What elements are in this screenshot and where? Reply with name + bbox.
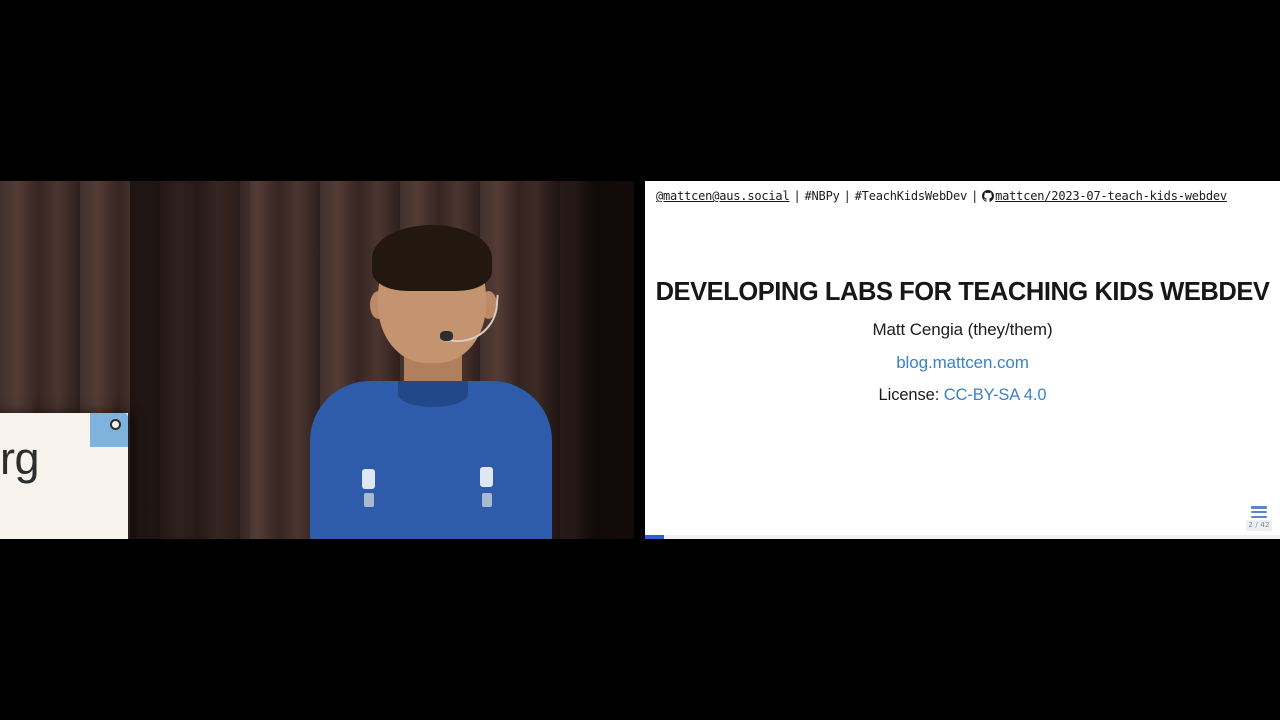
slide-counter: 2 / 42 bbox=[1246, 520, 1272, 531]
slide-title: DEVELOPING LABS FOR TEACHING KIDS WEBDEV bbox=[645, 277, 1280, 307]
headset-mic-capsule-icon bbox=[440, 331, 453, 341]
slide-license-line: License: CC-BY-SA 4.0 bbox=[645, 386, 1280, 405]
slide-author: Matt Cengia (they/them) bbox=[645, 320, 1280, 340]
banner-pin-icon bbox=[110, 419, 121, 430]
slide-progress-fill bbox=[645, 535, 664, 539]
menu-bar-3 bbox=[1251, 516, 1267, 519]
menu-bar-1 bbox=[1251, 506, 1267, 509]
speaker-video-panel[interactable]: North Bay Python mberg ng tabricks thon … bbox=[0, 181, 634, 539]
hashtag-event: #NBPy bbox=[805, 189, 840, 203]
slide-blog-link[interactable]: blog.mattcen.com bbox=[645, 353, 1280, 373]
sponsor-banner: mberg ng tabricks thon SOFTWARE FOUNDATI… bbox=[0, 413, 128, 539]
speaker-shirt-collar bbox=[398, 381, 468, 407]
screen-root: North Bay Python mberg ng tabricks thon … bbox=[0, 0, 1280, 720]
speaker-hair bbox=[372, 225, 492, 291]
license-label: License: bbox=[879, 386, 940, 404]
mastodon-handle-link[interactable]: @mattcen@aus.social bbox=[656, 189, 789, 203]
speaker-badge-left bbox=[362, 469, 375, 489]
header-separator-2: | bbox=[840, 189, 855, 203]
github-icon bbox=[982, 190, 994, 205]
curtain-shadow-left bbox=[130, 181, 250, 539]
slide-header-bar: @mattcen@aus.social|#NBPy|#TeachKidsWebD… bbox=[645, 189, 1280, 205]
hamburger-menu-icon[interactable] bbox=[1251, 506, 1267, 518]
speaker-badge-right bbox=[480, 467, 493, 487]
license-link[interactable]: CC-BY-SA 4.0 bbox=[944, 386, 1047, 404]
header-separator-1: | bbox=[789, 189, 804, 203]
github-repo-link[interactable]: mattcen/2023-07-teach-kids-webdev bbox=[995, 189, 1227, 203]
sponsor-bloomberg: mberg bbox=[0, 433, 114, 485]
slide-content: DEVELOPING LABS FOR TEACHING KIDS WEBDEV… bbox=[645, 277, 1280, 405]
speaker-figure bbox=[300, 231, 560, 539]
hashtag-topic: #TeachKidsWebDev bbox=[855, 189, 967, 203]
speaker-badge-left-lower bbox=[364, 493, 374, 507]
menu-bar-2 bbox=[1251, 511, 1267, 514]
header-separator-3: | bbox=[967, 189, 982, 203]
presentation-slide-panel[interactable]: @mattcen@aus.social|#NBPy|#TeachKidsWebD… bbox=[645, 181, 1280, 539]
slide-controls[interactable]: 2 / 42 bbox=[1246, 506, 1272, 531]
slide-progress-track[interactable] bbox=[645, 535, 1280, 539]
sponsor-engineering-tag: ng bbox=[0, 498, 118, 518]
speaker-badge-right-lower bbox=[482, 493, 492, 507]
